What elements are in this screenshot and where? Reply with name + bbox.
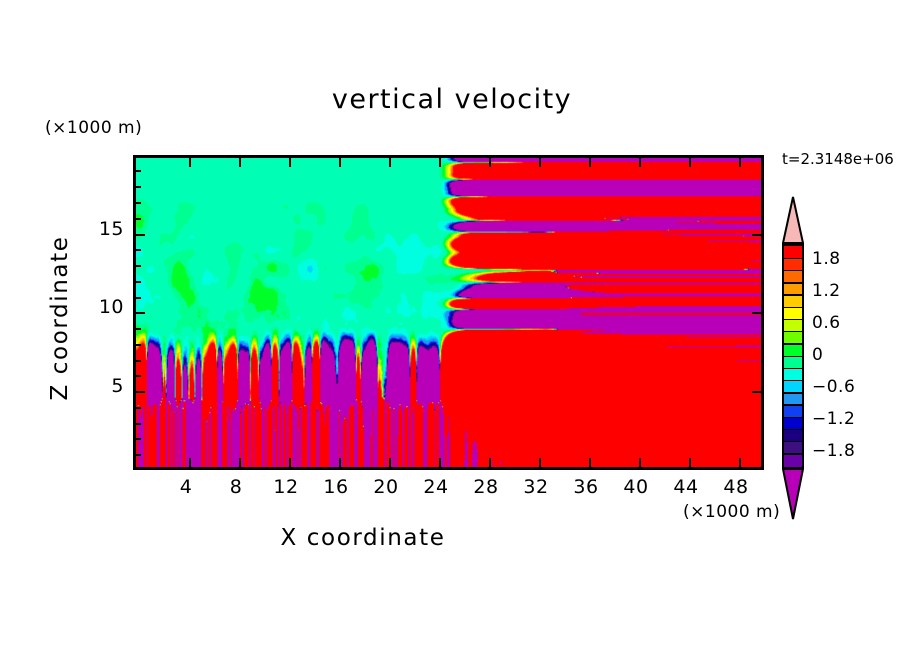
x-tick: [239, 458, 241, 467]
figure-canvas: vertical velocity (×1000 m) (×1000 m) t=…: [0, 0, 904, 654]
x-axis-title: X coordinate: [0, 525, 726, 551]
x-tick-top: [189, 158, 191, 167]
colorbar-band-separator: [784, 258, 802, 259]
colorbar-over-arrow-icon: [782, 196, 804, 244]
colorbar-band-separator: [784, 453, 802, 454]
colorbar-band-separator: [784, 270, 802, 271]
x-tick: [439, 458, 441, 467]
x-tick-label: 28: [466, 476, 506, 498]
x-tick: [739, 458, 741, 467]
y-minor-tick: [136, 297, 141, 299]
y-minor-tick: [136, 423, 141, 425]
colorbar-band: [784, 454, 802, 467]
y-minor-tick: [136, 328, 141, 330]
x-tick-label: 44: [666, 476, 706, 498]
x-tick-top: [339, 158, 341, 167]
y-minor-tick: [136, 454, 141, 456]
colorbar-tick-label: 1.8: [812, 249, 841, 269]
x-tick-top: [539, 158, 541, 167]
colorbar-tick-label: −1.8: [812, 441, 855, 461]
colorbar-band-separator: [784, 417, 802, 418]
x-tick-label: 40: [616, 476, 656, 498]
y-minor-tick: [136, 375, 141, 377]
x-tick: [289, 458, 291, 467]
y-minor-tick: [136, 281, 141, 283]
colorbar-tick-label: 0.6: [812, 313, 841, 333]
x-tick-label: 32: [516, 476, 556, 498]
x-tick-top: [489, 158, 491, 167]
x-tick: [489, 458, 491, 467]
y-tick: [136, 312, 145, 314]
y-axis-tick-labels: 51015: [76, 155, 124, 470]
y-tick: [136, 391, 145, 393]
x-tick-top: [389, 158, 391, 167]
x-tick-label: 36: [566, 476, 606, 498]
timestamp-annotation: t=2.3148e+06: [782, 150, 894, 168]
y-minor-tick: [136, 344, 141, 346]
x-axis-unit-label: (×1000 m): [683, 502, 780, 522]
colorbar-band-separator: [784, 429, 802, 430]
colorbar-tick-label: −1.2: [812, 409, 855, 429]
colorbar-band-separator: [784, 331, 802, 332]
x-tick-label: 8: [216, 476, 256, 498]
colorbar-tick-label: 0: [812, 345, 823, 365]
x-tick-label: 20: [366, 476, 406, 498]
velocity-field-image: [136, 158, 761, 467]
colorbar-band-separator: [784, 380, 802, 381]
y-minor-tick: [136, 407, 141, 409]
x-tick: [639, 458, 641, 467]
colorbar-band-separator: [784, 441, 802, 442]
colorbar-band-separator: [784, 368, 802, 369]
y-tick-label: 5: [84, 375, 124, 397]
colorbar-band-separator: [784, 307, 802, 308]
y-minor-tick: [136, 360, 141, 362]
y-tick-right: [752, 312, 761, 314]
x-tick-top: [239, 158, 241, 167]
x-tick-top: [689, 158, 691, 167]
y-tick-right: [752, 391, 761, 393]
x-tick: [539, 458, 541, 467]
colorbar-band-separator: [784, 356, 802, 357]
y-minor-tick: [136, 218, 141, 220]
y-tick: [136, 234, 145, 236]
x-tick: [689, 458, 691, 467]
colorbar-band-separator: [784, 319, 802, 320]
colorbar-tick-label: −0.6: [812, 377, 855, 397]
x-tick-top: [439, 158, 441, 167]
y-minor-tick: [136, 186, 141, 188]
x-tick-label: 48: [716, 476, 756, 498]
colorbar-band-separator: [784, 404, 802, 405]
colorbar-under-arrow-icon: [782, 468, 804, 520]
x-tick: [389, 458, 391, 467]
y-minor-tick: [136, 438, 141, 440]
colorbar-band-separator: [784, 343, 802, 344]
x-tick-top: [589, 158, 591, 167]
y-tick-label: 10: [84, 296, 124, 318]
y-minor-tick: [136, 249, 141, 251]
y-tick-label: 15: [84, 218, 124, 240]
z-axis-title: Z coordinate: [47, 228, 73, 408]
chart-title: vertical velocity: [0, 84, 904, 115]
colorbar-band-separator: [784, 392, 802, 393]
y-tick-right: [752, 234, 761, 236]
x-tick-label: 24: [416, 476, 456, 498]
y-minor-tick: [136, 170, 141, 172]
x-tick-label: 16: [316, 476, 356, 498]
x-tick-top: [639, 158, 641, 167]
colorbar-band-separator: [784, 294, 802, 295]
contour-plot-area: [133, 155, 764, 470]
y-minor-tick: [136, 202, 141, 204]
colorbar-bands: [782, 244, 804, 468]
x-tick-label: 12: [266, 476, 306, 498]
y-axis-unit-label: (×1000 m): [45, 118, 142, 138]
y-minor-tick: [136, 265, 141, 267]
x-tick: [189, 458, 191, 467]
colorbar: 1.81.20.60−0.6−1.2−1.8: [776, 196, 896, 516]
x-tick: [339, 458, 341, 467]
x-tick-top: [739, 158, 741, 167]
x-tick-top: [289, 158, 291, 167]
x-tick-label: 4: [166, 476, 206, 498]
x-tick: [589, 458, 591, 467]
colorbar-tick-label: 1.2: [812, 281, 841, 301]
colorbar-band-separator: [784, 282, 802, 283]
